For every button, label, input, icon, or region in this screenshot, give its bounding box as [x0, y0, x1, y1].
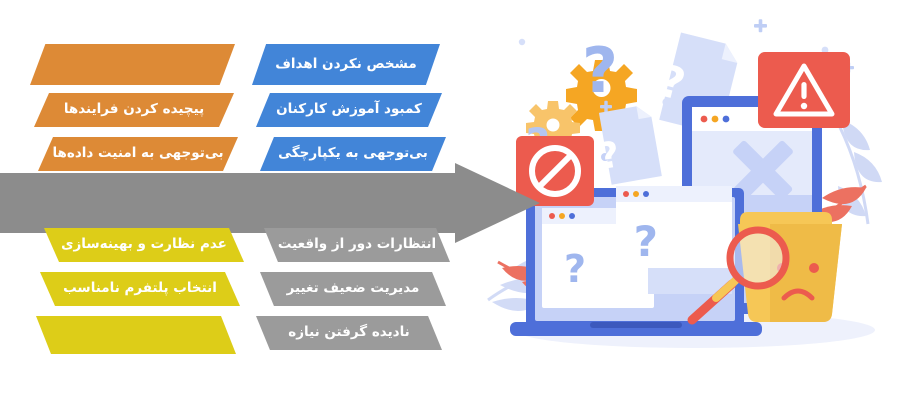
chip-label: بی‌توجهی به امنیت داده‌ها: [52, 145, 223, 163]
svg-text:?: ?: [634, 217, 658, 266]
chip-orange-1[interactable]: [30, 44, 235, 85]
chip-label: نادیده گرفتن نیازه: [288, 324, 409, 342]
chip-gray-3[interactable]: نادیده گرفتن نیازه: [256, 316, 442, 350]
chip-label: انتخاب پلتفرم نامناسب: [63, 280, 217, 298]
dot-icon: [519, 39, 525, 45]
chip-orange-3[interactable]: بی‌توجهی به امنیت داده‌ها: [38, 137, 238, 171]
chip-label: عدم نظارت و بهینه‌سازی: [61, 236, 227, 254]
chip-blue-1[interactable]: مشخص نکردن اهداف: [252, 44, 440, 85]
chip-label: مشخص نکردن اهداف: [275, 56, 417, 74]
question-mark-icon: ?: [582, 34, 618, 107]
warning-triangle-icon: [758, 52, 850, 128]
chip-label: بی‌توجهی به یکپارچگی: [278, 145, 428, 163]
chip-gray-1[interactable]: انتظارات دور از واقعیت: [264, 228, 450, 262]
chip-gray-2[interactable]: مدیریت ضعیف تغییر: [260, 272, 446, 306]
chip-yellow-1[interactable]: عدم نظارت و بهینه‌سازی: [44, 228, 244, 262]
plus-icon: [754, 19, 767, 32]
chip-yellow-3[interactable]: [36, 316, 236, 354]
chip-label: کمبود آموزش کارکنان: [276, 101, 422, 119]
chip-label: پیچیده کردن فرایندها: [64, 101, 204, 119]
svg-text:?: ?: [564, 247, 586, 291]
svg-text:?: ?: [582, 34, 618, 107]
chip-label: مدیریت ضعیف تغییر: [287, 280, 420, 298]
chip-blue-2[interactable]: کمبود آموزش کارکنان: [256, 93, 442, 127]
browser-window-icon: ?: [616, 186, 732, 282]
chip-yellow-2[interactable]: انتخاب پلتفرم نامناسب: [40, 272, 240, 306]
chip-blue-3[interactable]: بی‌توجهی به یکپارچگی: [260, 137, 446, 171]
infographic-canvas: ? ? ? ?: [0, 0, 900, 400]
chip-orange-2[interactable]: پیچیده کردن فرایندها: [34, 93, 234, 127]
document-icon: ?: [591, 104, 662, 186]
chip-label: انتظارات دور از واقعیت: [278, 236, 436, 254]
